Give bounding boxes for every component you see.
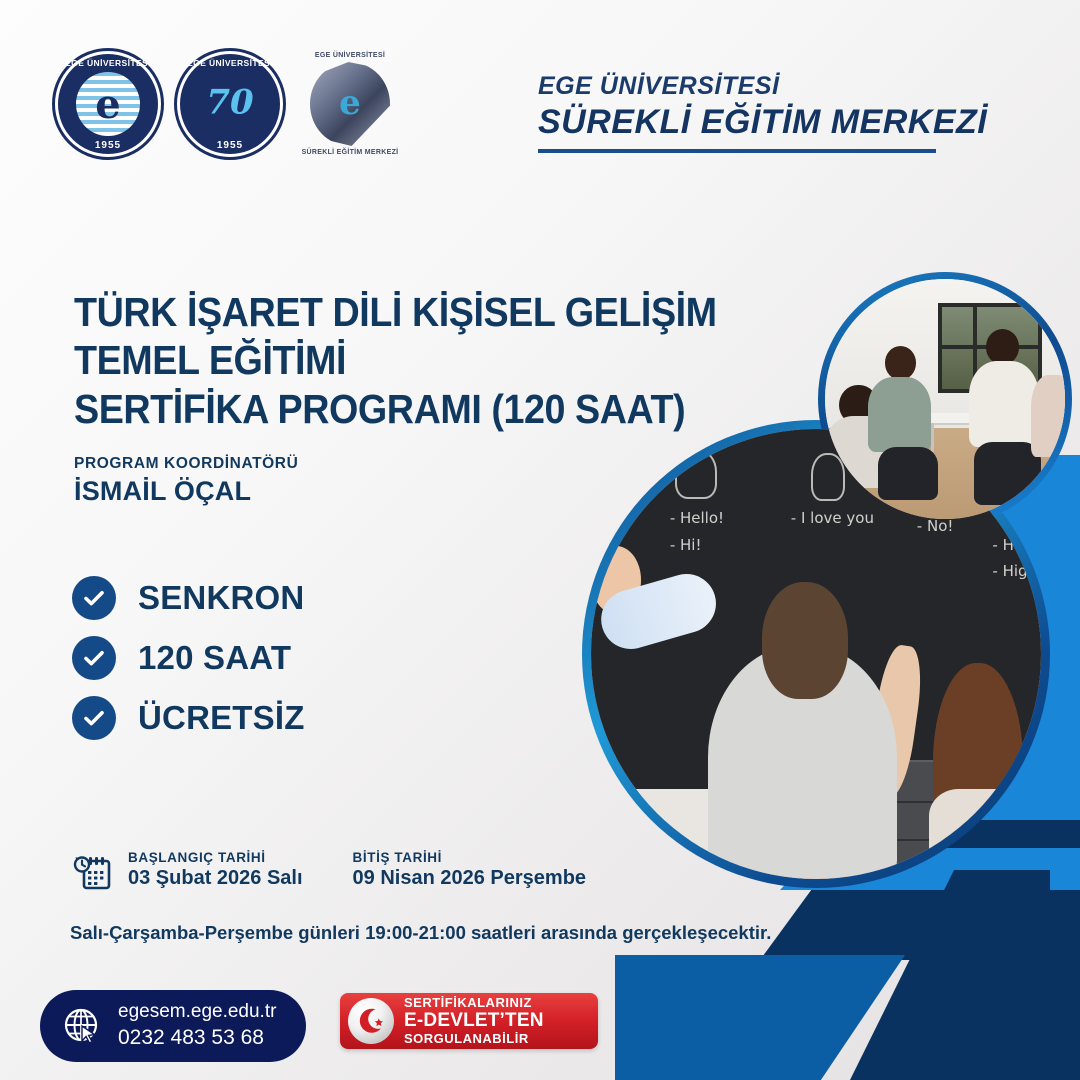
edevlet-text: SERTİFİKALARINIZ E-DEVLET’TEN SORGULANAB… xyxy=(404,996,544,1046)
contact-text: egesem.ege.edu.tr 0232 483 53 68 xyxy=(118,1000,276,1051)
seal2-arc-text: EGE ÜNİVERSİTESİ xyxy=(174,58,286,68)
ege-university-70th-anniversary-logo: EGE ÜNİVERSİTESİ 70 1955 xyxy=(174,48,286,160)
start-date-group: BAŞLANGIÇ TARİHİ 03 Şubat 2026 Salı xyxy=(128,850,303,890)
chalk-note-hi: - Hi! xyxy=(670,536,702,554)
edevlet-line-3: SORGULANABİLİR xyxy=(404,1032,544,1047)
feature-list: SENKRON 120 SAAT ÜCRETSİZ xyxy=(72,576,305,756)
end-date-group: BİTİŞ TARİHİ 09 Nisan 2026 Perşembe xyxy=(353,850,587,890)
start-date-label: BAŞLANGIÇ TARİHİ xyxy=(128,850,303,865)
seal1-letter-e: e xyxy=(95,81,120,128)
end-date-value: 09 Nisan 2026 Perşembe xyxy=(353,867,587,890)
start-date-value: 03 Şubat 2026 Salı xyxy=(128,867,303,890)
chalk-note-ha: - Ha xyxy=(992,536,1023,554)
calendar-clock-icon xyxy=(70,852,114,896)
sem-top-text: EGE ÜNİVERSİTESİ xyxy=(296,52,404,59)
end-date-label: BİTİŞ TARİHİ xyxy=(353,850,587,865)
student-back-view-head xyxy=(762,582,848,699)
secondary-photo-group-session xyxy=(825,279,1065,519)
check-circle-icon xyxy=(72,636,116,680)
participant-2-head xyxy=(885,346,916,380)
list-item: ÜCRETSİZ xyxy=(72,696,305,740)
poster-canvas: - Hello! - Hi! - I love you - No! - Ha -… xyxy=(0,0,1080,1080)
egesem-logo: EGE ÜNİVERSİTESİ e SÜREKLİ EĞİTİM MERKEZ… xyxy=(296,50,404,158)
globe-cursor-icon xyxy=(60,1004,104,1048)
feature-label-senkron: SENKRON xyxy=(138,579,304,617)
date-section: BAŞLANGIÇ TARİHİ 03 Şubat 2026 Salı BİTİ… xyxy=(70,850,586,896)
participant-4-body xyxy=(1031,375,1065,457)
participant-2-legs xyxy=(878,447,938,500)
sem-bottom-text: SÜREKLİ EĞİTİM MERKEZİ xyxy=(296,149,404,156)
seal1-year: 1955 xyxy=(52,140,164,151)
brand-header: EGE ÜNİVERSİTESİ SÜREKLİ EĞİTİM MERKEZİ xyxy=(538,72,987,153)
turkish-crescent-seal-icon xyxy=(348,998,394,1044)
chalk-note-hello: - Hello! xyxy=(670,509,724,527)
participant-2-body xyxy=(868,377,930,451)
feature-label-free: ÜCRETSİZ xyxy=(138,699,305,737)
list-item: SENKRON xyxy=(72,576,305,620)
contact-phone[interactable]: 0232 483 53 68 xyxy=(118,1025,276,1052)
chalk-note-hig: - Hig xyxy=(992,562,1027,580)
seal1-arc-text: EGE ÜNİVERSİTESİ xyxy=(52,58,164,68)
participant-3-body xyxy=(969,361,1039,447)
chalk-note-no: - No! xyxy=(917,517,954,535)
date-columns: BAŞLANGIÇ TARİHİ 03 Şubat 2026 Salı BİTİ… xyxy=(128,850,586,890)
brand-underline xyxy=(538,149,936,153)
edevlet-verification-badge[interactable]: SERTİFİKALARINIZ E-DEVLET’TEN SORGULANAB… xyxy=(340,993,598,1049)
program-title-block: TÜRK İŞARET DİLİ KİŞİSEL GELİŞİM TEMEL E… xyxy=(74,288,814,507)
seal2-year: 1955 xyxy=(174,140,286,151)
institution-logos: EGE ÜNİVERSİTESİ e 1955 EGE ÜNİVERSİTESİ… xyxy=(52,48,404,160)
check-circle-icon xyxy=(72,696,116,740)
group-session-scene xyxy=(825,279,1065,519)
coordinator-name: İSMAİL ÖÇAL xyxy=(74,476,814,507)
seal2-seventy-mark: 70 xyxy=(206,82,253,122)
brand-line-center: SÜREKLİ EĞİTİM MERKEZİ xyxy=(538,103,987,142)
seal1-wave-mark: e xyxy=(76,72,140,136)
feature-label-hours: 120 SAAT xyxy=(138,639,291,677)
contact-badge[interactable]: egesem.ege.edu.tr 0232 483 53 68 xyxy=(40,990,306,1062)
list-item: 120 SAAT xyxy=(72,636,305,680)
brand-line-university: EGE ÜNİVERSİTESİ xyxy=(538,72,987,101)
page-title-line-1: TÜRK İŞARET DİLİ KİŞİSEL GELİŞİM TEMEL E… xyxy=(74,288,755,385)
edevlet-line-2: E-DEVLET’TEN xyxy=(404,1010,544,1031)
sem-letter-e: e xyxy=(339,83,361,123)
contact-website[interactable]: egesem.ege.edu.tr xyxy=(118,1000,276,1024)
student-girl-body xyxy=(929,789,1028,879)
page-title-line-2: SERTİFİKA PROGRAMI (120 SAAT) xyxy=(74,385,755,433)
edevlet-line-1: SERTİFİKALARINIZ xyxy=(404,996,544,1011)
schedule-note: Salı-Çarşamba-Perşembe günleri 19:00-21:… xyxy=(70,922,771,944)
check-circle-icon xyxy=(72,576,116,620)
ege-university-seal-logo: EGE ÜNİVERSİTESİ e 1955 xyxy=(52,48,164,160)
coordinator-label: PROGRAM KOORDİNATÖRÜ xyxy=(74,455,814,473)
